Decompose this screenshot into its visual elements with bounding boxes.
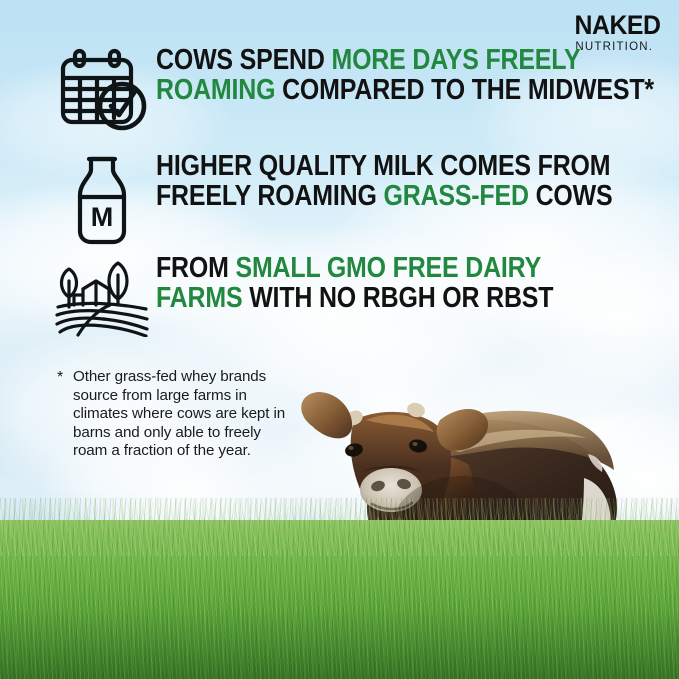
feature1-line2-highlight: ROAMING — [156, 74, 282, 106]
feature3-line2-post: WITH NO RBGH OR RBST — [249, 282, 553, 314]
infographic-canvas: NAKED NUTRITION. — [0, 0, 679, 679]
feature-text-milk: HIGHER QUALITY MILK COMES FROM FREELY RO… — [156, 152, 612, 211]
feature-text-farms: FROM SMALL GMO FREE DAIRY FARMS WITH NO … — [156, 254, 553, 313]
feature-text-roaming: COWS SPEND MORE DAYS FREELY ROAMING COMP… — [156, 46, 654, 105]
feature2-line2-highlight: GRASS-FED — [383, 180, 528, 212]
footnote-text: Other grass-fed whey brands source from … — [57, 368, 297, 461]
feature2-line2-pre: FREELY ROAMING — [156, 180, 383, 212]
farm-icon — [48, 254, 156, 340]
milk-bottle-icon: M — [48, 152, 156, 248]
feature2-line1: HIGHER QUALITY MILK COMES FROM — [156, 150, 610, 182]
grass-foreground — [0, 498, 679, 679]
feature3-line1-pre: FROM — [156, 252, 235, 284]
feature-row-roaming: COWS SPEND MORE DAYS FREELY ROAMING COMP… — [48, 46, 679, 138]
footnote: * Other grass-fed whey brands source fro… — [57, 368, 297, 461]
feature-list: COWS SPEND MORE DAYS FREELY ROAMING COMP… — [0, 0, 679, 340]
feature2-line2-post: COWS — [529, 180, 613, 212]
feature-row-milk: M HIGHER QUALITY MILK COMES FROM FREELY … — [48, 152, 679, 248]
feature3-line2-highlight: FARMS — [156, 282, 249, 314]
feature-row-farms: FROM SMALL GMO FREE DAIRY FARMS WITH NO … — [48, 254, 618, 340]
svg-text:M: M — [91, 202, 114, 232]
footnote-marker: * — [57, 368, 63, 388]
feature1-line1-highlight: MORE DAYS FREELY — [331, 44, 580, 76]
feature1-line2-post: COMPARED TO THE MIDWEST* — [282, 74, 654, 106]
calendar-check-icon — [48, 46, 156, 138]
feature1-line1-pre: COWS SPEND — [156, 44, 331, 76]
feature3-line1-highlight: SMALL GMO FREE DAIRY — [235, 252, 541, 284]
